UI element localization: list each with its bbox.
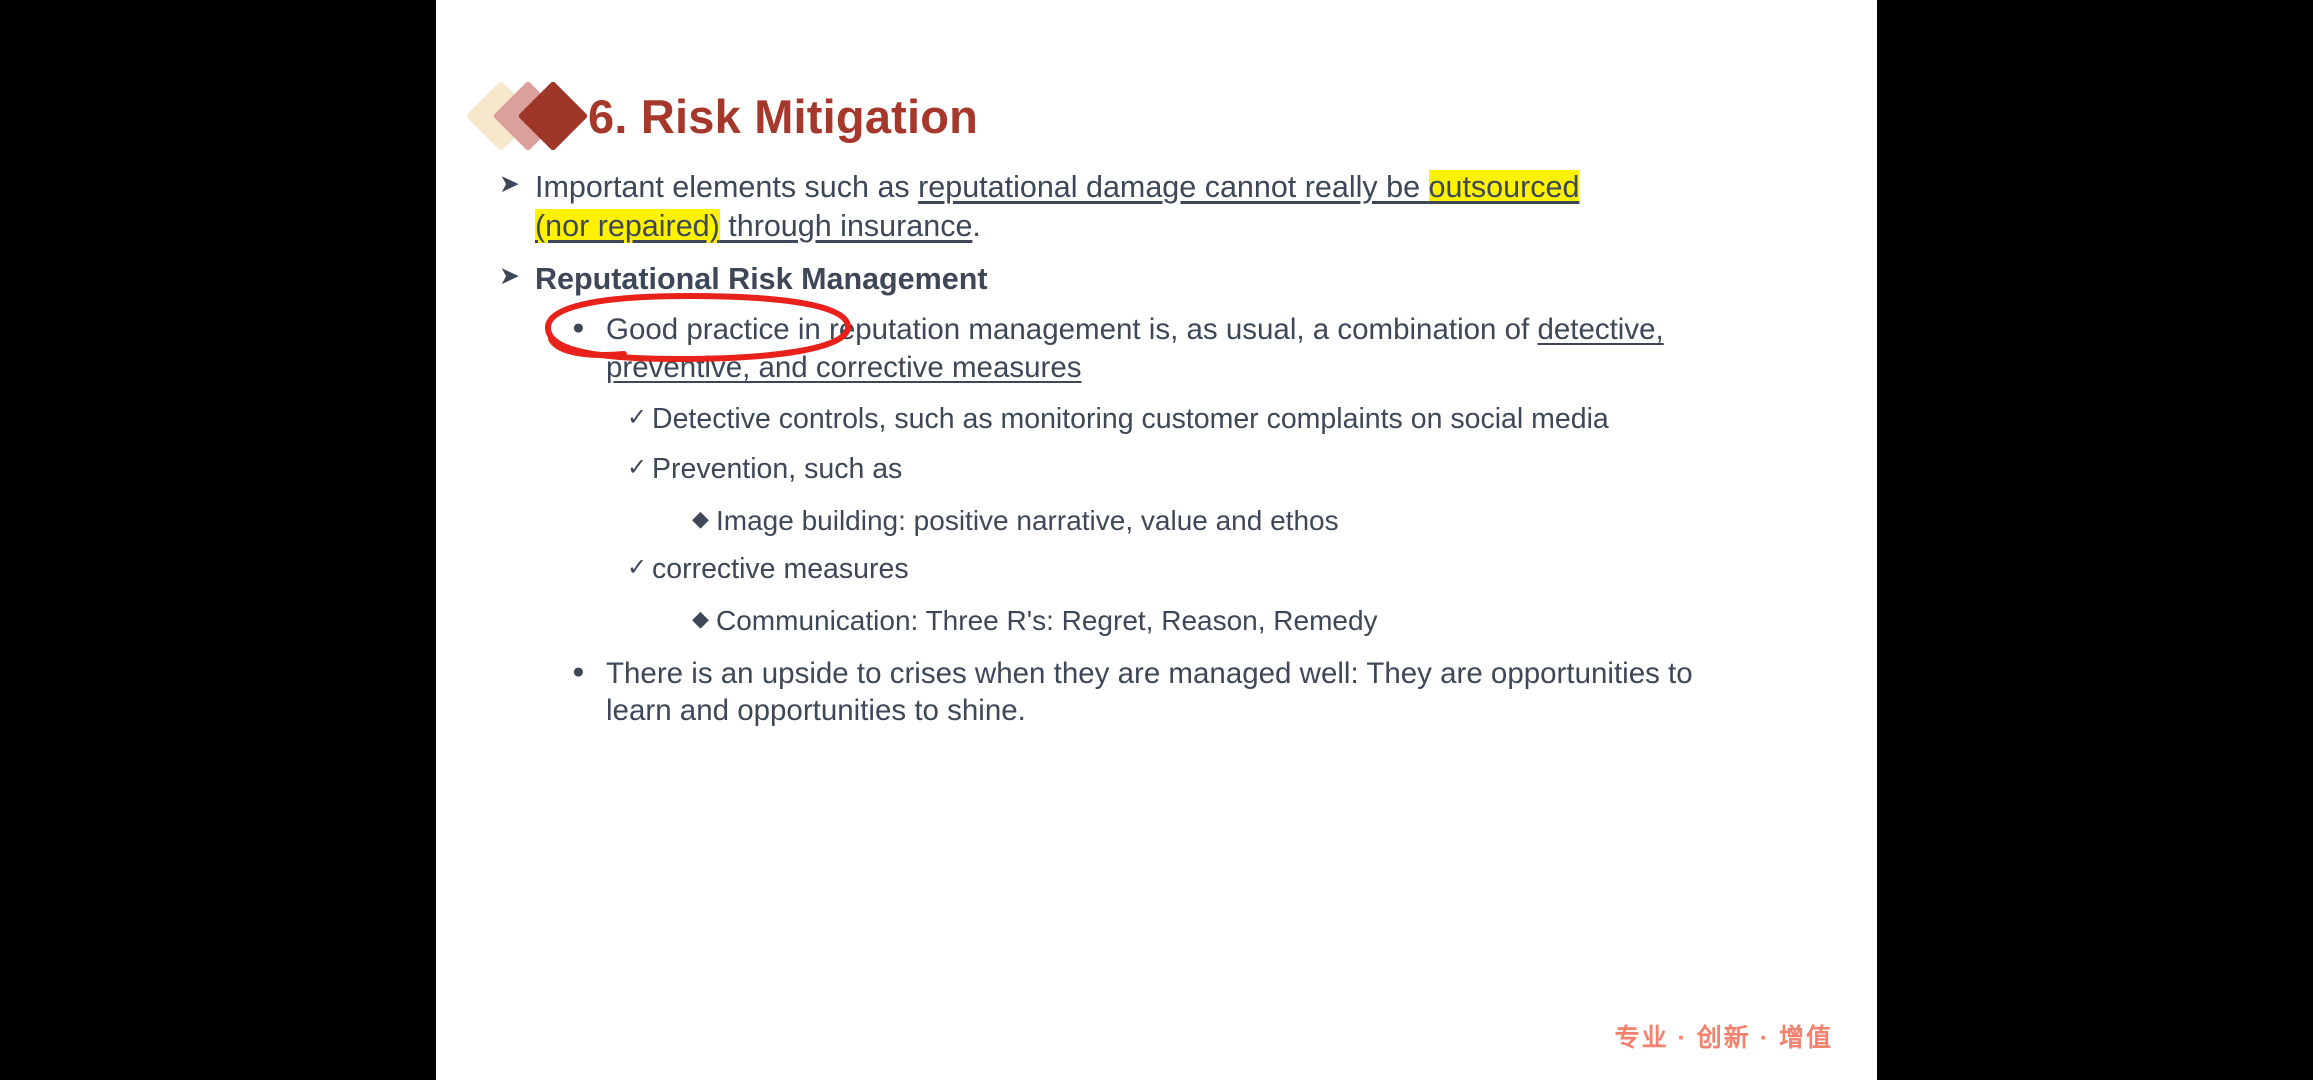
diamond-bullet-icon: ◆ [692, 603, 716, 633]
diamond-bullet-icon: ◆ [692, 503, 716, 533]
arrow-bullet-icon: ➤ [499, 168, 535, 200]
bullet-item-level3: ✓ corrective measures [627, 551, 1836, 587]
dot-bullet-icon: ● [572, 311, 606, 342]
bullet-item-level2: ● There is an upside to crises when they… [572, 655, 1836, 731]
bullet1-underline-2: through insurance [720, 209, 973, 243]
bullet-text: Important elements such as reputational … [535, 168, 1590, 246]
check-bullet-icon: ✓ [627, 401, 652, 434]
slide-title-row: 6. Risk Mitigation [476, 78, 978, 154]
bullet9-text: There is an upside to crises when they a… [606, 655, 1736, 731]
bullet3-pre: Good practice in reputation management i… [606, 313, 1537, 346]
footer-slogan: 专业 · 创新 · 增值 [1615, 1018, 1833, 1054]
bullet-item-level4: ◆ Communication: Three R's: Regret, Reas… [692, 603, 1836, 639]
bullet4-text: Detective controls, such as monitoring c… [652, 401, 1672, 437]
bullet5-text: Prevention, such as [652, 451, 1672, 487]
bullet-item-level4: ◆ Image building: positive narrative, va… [692, 503, 1836, 539]
page-title: 6. Risk Mitigation [588, 89, 978, 144]
bullet-item-level3: ✓ Detective controls, such as monitoring… [627, 401, 1836, 437]
bullet6-text: Image building: positive narrative, valu… [716, 503, 1836, 539]
bullet-item-level1: ➤ Important elements such as reputationa… [499, 168, 1836, 246]
dot-bullet-icon: ● [572, 655, 606, 686]
bullet1-post: . [972, 209, 980, 243]
bullet-item-reputational-risk-management: ➤ Reputational Risk Management [499, 260, 1836, 299]
title-diamond-decoration [476, 80, 582, 152]
presentation-slide: 6. Risk Mitigation ➤ Important elements … [436, 0, 1877, 1080]
bullet1-underline-1: reputational damage cannot really be [918, 170, 1428, 204]
check-bullet-icon: ✓ [627, 551, 652, 584]
bullet1-pre: Important elements such as [535, 170, 918, 204]
arrow-bullet-icon: ➤ [499, 260, 535, 292]
letterbox-right [1877, 0, 2313, 1080]
bullet2-text: Reputational Risk Management [535, 260, 1590, 299]
check-bullet-icon: ✓ [627, 451, 652, 484]
bullet7-text: corrective measures [652, 551, 1672, 587]
slide-body: ➤ Important elements such as reputationa… [476, 168, 1836, 730]
letterbox-left [0, 0, 436, 1080]
bullet8-text: Communication: Three R's: Regret, Reason… [716, 603, 1836, 639]
bullet-item-level3: ✓ Prevention, such as [627, 451, 1836, 487]
bullet3-text: Good practice in reputation management i… [606, 311, 1736, 387]
bullet-item-level2: ● Good practice in reputation management… [572, 311, 1836, 387]
screen: 6. Risk Mitigation ➤ Important elements … [0, 0, 2313, 1080]
